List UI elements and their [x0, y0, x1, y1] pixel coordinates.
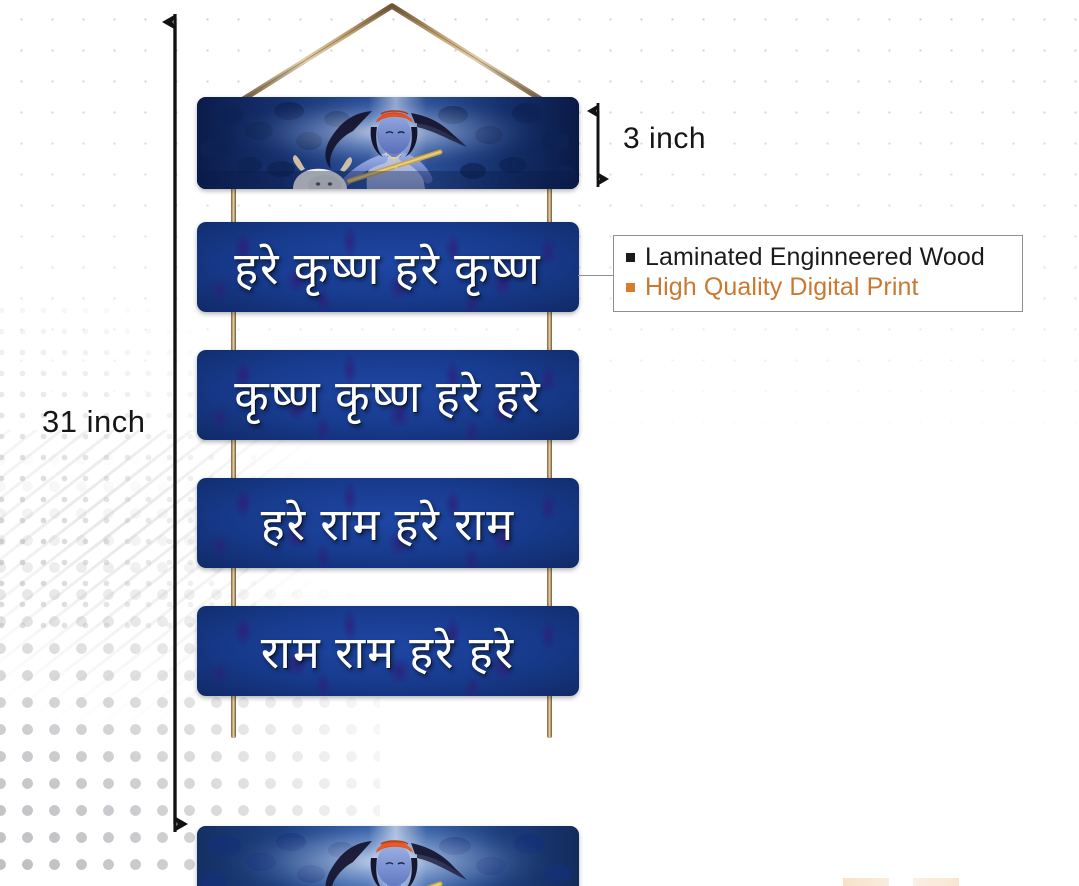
rope-connector	[231, 186, 236, 226]
callout-leader-line	[578, 275, 614, 276]
rope-connector	[547, 310, 552, 354]
rope-connector	[231, 438, 236, 482]
rope-connector	[231, 566, 236, 610]
plaque-stack: हरे कृष्ण हरे कृष्ण कृष्ण कृष्ण हरे हरे …	[197, 92, 579, 837]
panel-height-dimension-arrow	[582, 95, 618, 195]
krishna-flute-illustration	[197, 826, 579, 886]
rope-connector	[547, 186, 552, 226]
plaque-image-bottom[interactable]	[197, 826, 579, 886]
mantra-text: कृष्ण कृष्ण हरे हरे	[234, 365, 542, 426]
product-infographic: हरे कृष्ण हरे कृष्ण कृष्ण कृष्ण हरे हरे …	[0, 0, 1079, 886]
feature-label-print: High Quality Digital Print	[645, 273, 919, 303]
rope-connector	[547, 566, 552, 610]
features-callout-box: Laminated Enginneered Wood High Quality …	[613, 235, 1023, 312]
rope-connector	[547, 438, 552, 482]
plaque-mantra-4[interactable]: राम राम हरे हरे	[197, 606, 579, 696]
mantra-text: हरे कृष्ण हरे कृष्ण	[234, 237, 542, 298]
square-bullet-icon	[626, 283, 635, 292]
cropped-corner-graphic	[843, 878, 983, 886]
mantra-text: राम राम हरे हरे	[261, 621, 515, 682]
mantra-text: हरे राम हरे राम	[261, 493, 515, 554]
plaque-mantra-1[interactable]: हरे कृष्ण हरे कृष्ण	[197, 222, 579, 312]
square-bullet-icon	[626, 253, 635, 262]
rope-connector	[231, 694, 236, 738]
plaque-image-top[interactable]	[197, 97, 579, 189]
krishna-flute-illustration	[197, 97, 579, 189]
feature-label-material: Laminated Enginneered Wood	[645, 243, 985, 273]
rope-connector	[547, 694, 552, 738]
feature-row-material: Laminated Enginneered Wood	[626, 243, 1010, 273]
plaque-mantra-3[interactable]: हरे राम हरे राम	[197, 478, 579, 568]
feature-row-print: High Quality Digital Print	[626, 273, 1010, 303]
plaque-mantra-2[interactable]: कृष्ण कृष्ण हरे हरे	[197, 350, 579, 440]
height-dimension-label: 31 inch	[42, 404, 145, 440]
rope-connector	[231, 310, 236, 354]
panel-height-dimension-label: 3 inch	[623, 122, 706, 156]
